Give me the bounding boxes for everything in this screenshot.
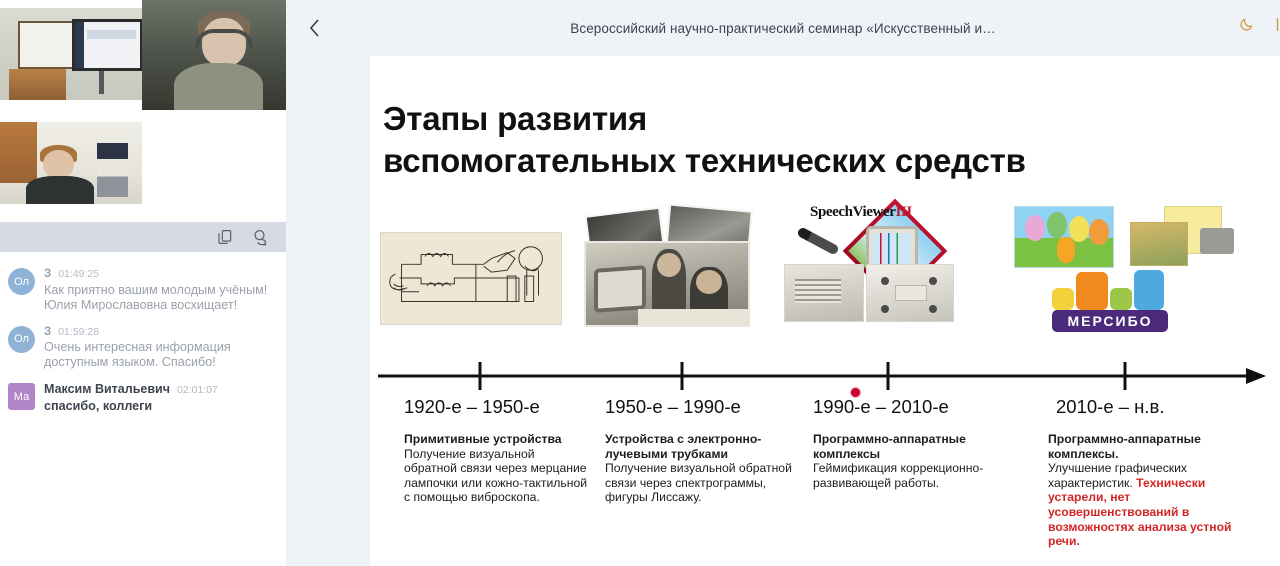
message-text: спасибо, коллеги (44, 399, 276, 414)
message-text: Как приятно вашим молодым учёным! Юлия М… (44, 283, 276, 313)
message-text: Очень интересная информация доступным яз… (44, 340, 276, 370)
column-body: Получение визуальной обратной связи чере… (404, 447, 587, 505)
mersibo-logo: МЕРСИБО (1046, 270, 1174, 332)
slide-title: Этапы развития вспомогательных техническ… (383, 98, 1263, 182)
timeline-images: SpeechViewerIII (370, 204, 1280, 352)
speechviewer-hardware-image: SpeechViewerIII (778, 204, 958, 336)
timeline-column-2: 1950-е – 1990-е Устройства с электронно-… (605, 396, 800, 505)
participant-speaking-image (0, 122, 142, 204)
list-item[interactable]: Ол З 01:49:25 Как приятно вашим молодым … (8, 268, 276, 313)
timeline-column-1: 1920-е – 1950-е Примитивные устройства П… (404, 396, 589, 505)
crt-photo-stack-image (582, 207, 757, 332)
message-time: 01:49:25 (58, 269, 99, 281)
slide-title-line1: Этапы развития (383, 100, 647, 137)
column-body: Получение визуальной обратной связи чере… (605, 461, 792, 504)
meeting-app: Ол З 01:49:25 Как приятно вашим молодым … (0, 0, 1280, 566)
timeline-columns: 1920-е – 1950-е Примитивные устройства П… (370, 396, 1280, 566)
speechviewer-logo: SpeechViewerIII (810, 204, 912, 221)
room-camera-image (0, 8, 150, 100)
list-item[interactable]: Ол З 01:59:28 Очень интересная информаци… (8, 326, 276, 371)
column-heading: Устройства с электронно-лучевыми трубкам… (605, 432, 761, 461)
top-bar: Всероссийский научно-практический семина… (286, 0, 1280, 56)
chat-message-list[interactable]: Ол З 01:49:25 Как приятно вашим молодым … (0, 252, 286, 566)
page-title: Всероссийский научно-практический семина… (286, 21, 1280, 36)
period-label: 1990-е – 2010-е (813, 396, 1013, 418)
list-item[interactable]: Ма Максим Витальевич 02:01:07 спасибо, к… (8, 383, 276, 414)
vibroscope-schematic-image (380, 232, 562, 325)
period-label: 2010-е – н.в. (1048, 396, 1248, 418)
period-label: 1950-е – 1990-е (605, 396, 800, 418)
message-author: Максим Витальевич (44, 383, 170, 397)
column-heading: Программно-аппаратные комплексы (813, 432, 966, 461)
participant-headset-image (142, 0, 286, 110)
column-heading: Примитивные устройства (404, 432, 562, 446)
main-area: Всероссийский научно-практический семина… (286, 0, 1280, 566)
column-body: Геймификация коррекционно-развивающей ра… (813, 461, 983, 490)
avatar: Ол (8, 268, 35, 295)
left-panel: Ол З 01:49:25 Как приятно вашим молодым … (0, 0, 286, 566)
timeline-column-3: 1990-е – 2010-е Программно-аппаратные ко… (813, 396, 1013, 490)
timeline-axis (370, 356, 1280, 396)
mersibo-software-image: МЕРСИБО (1010, 204, 1240, 344)
message-author: З (44, 326, 51, 339)
presentation-slide[interactable]: Этапы развития вспомогательных техническ… (370, 56, 1280, 566)
message-author: З (44, 268, 51, 281)
video-tile-participant-headset[interactable] (142, 0, 286, 110)
moon-icon[interactable] (1238, 16, 1255, 33)
avatar: Ол (8, 326, 35, 353)
slide-title-line2: вспомогательных технических средств (383, 140, 1263, 182)
avatar: Ма (8, 383, 35, 410)
period-label: 1920-е – 1950-е (404, 396, 589, 418)
video-tiles (0, 0, 286, 222)
timeline-column-4: 2010-е – н.в. Программно-аппаратные комп… (1048, 396, 1248, 549)
chat-bubbles-icon[interactable] (252, 228, 270, 246)
column-heading: Программно-аппаратные комплексы. (1048, 432, 1201, 461)
video-tile-participant-speaking[interactable] (0, 122, 142, 204)
partial-icon[interactable] (1269, 16, 1280, 33)
copy-icon[interactable] (216, 228, 234, 246)
panel-toolbar (0, 222, 286, 252)
video-tile-room[interactable] (0, 8, 150, 100)
topbar-actions (1238, 16, 1274, 33)
message-time: 02:01:07 (177, 385, 218, 397)
message-time: 01:59:28 (58, 327, 99, 339)
